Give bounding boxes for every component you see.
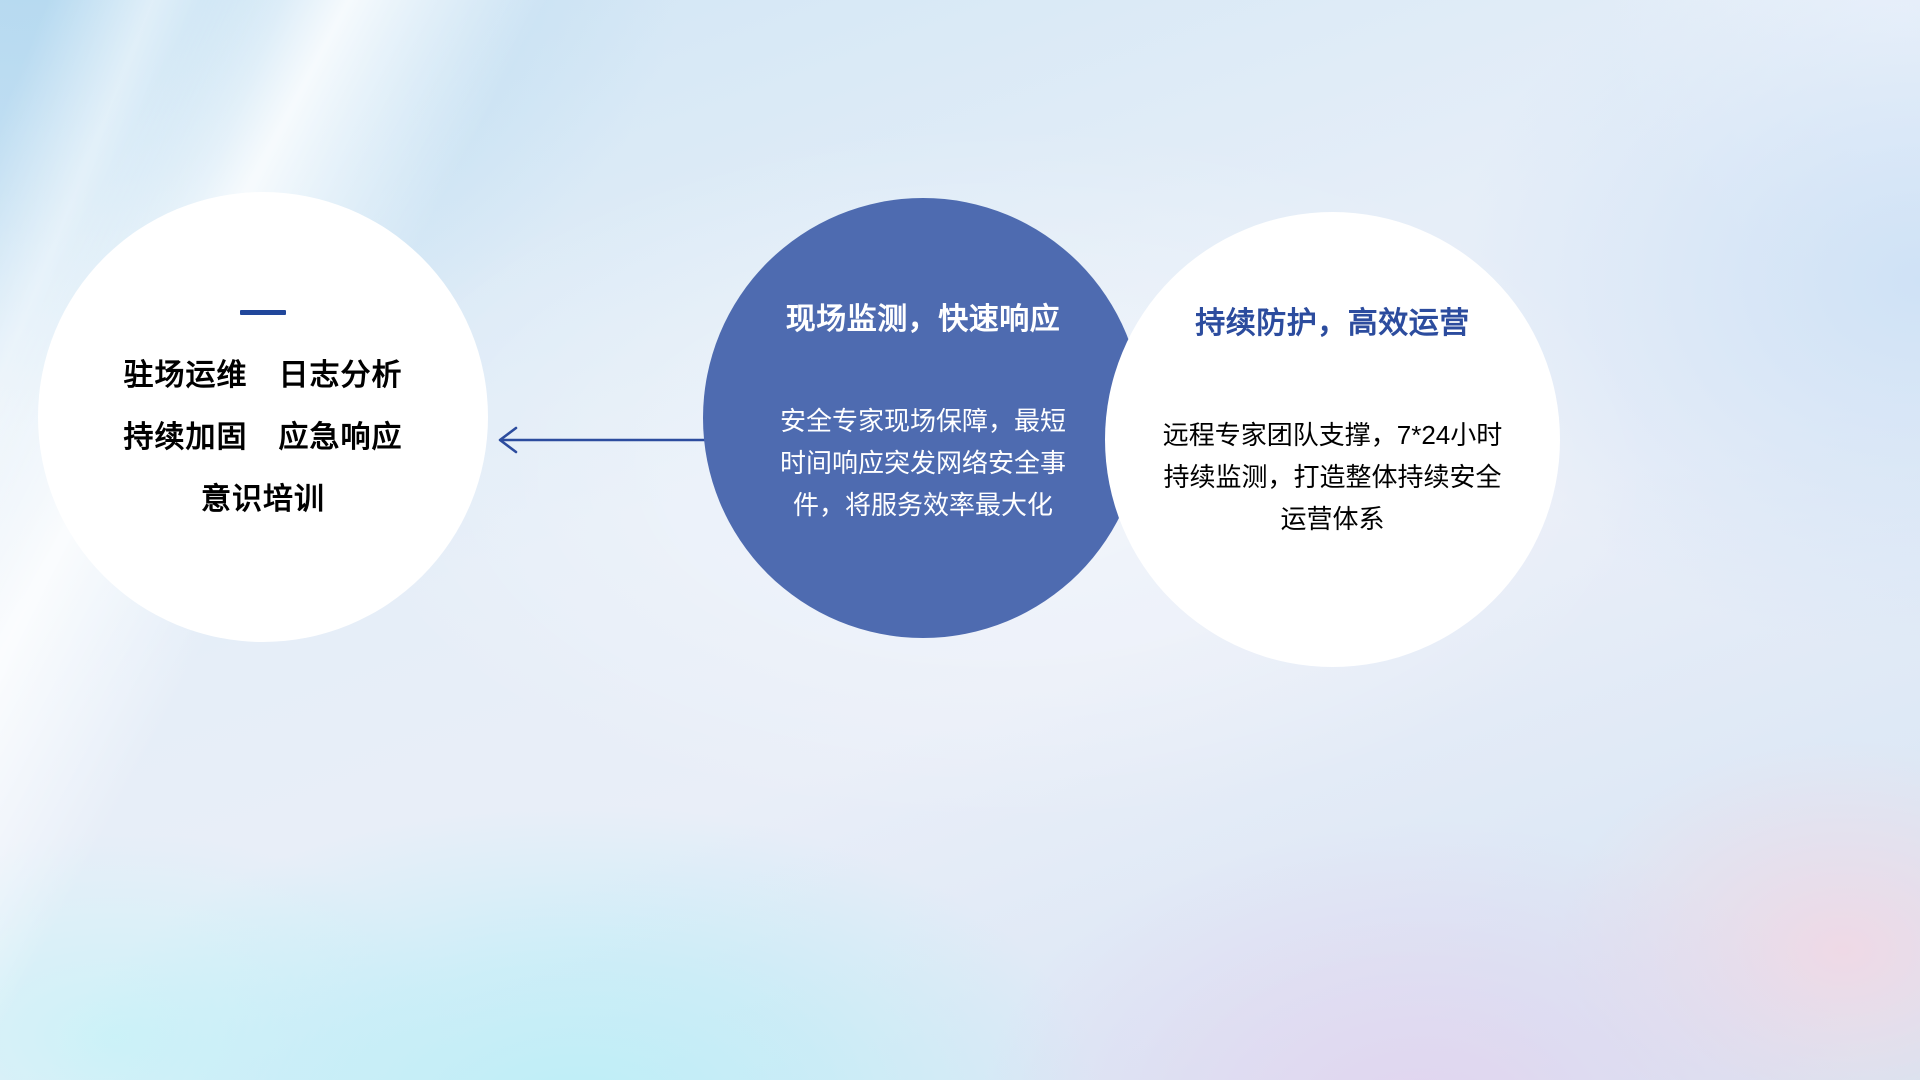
left-service-circle: 驻场运维 日志分析 持续加固 应急响应 意识培训 — [38, 192, 488, 642]
slide-canvas: 驻场运维 日志分析 持续加固 应急响应 意识培训 现场监测，快速响应 安全专家现… — [0, 0, 1920, 1080]
right-circle-body: 远程专家团队支撑，7*24小时持续监测，打造整体持续安全运营体系 — [1160, 414, 1506, 540]
right-circle-title: 持续防护，高效运营 — [1195, 298, 1470, 342]
left-circle-line-3: 意识培训 — [201, 485, 325, 515]
middle-onsite-monitoring-circle: 现场监测，快速响应 安全专家现场保障，最短时间响应突发网络安全事件，将服务效率最… — [703, 198, 1143, 638]
middle-circle-title: 现场监测，快速响应 — [786, 294, 1061, 338]
right-continuous-protection-circle: 持续防护，高效运营 远程专家团队支撑，7*24小时持续监测，打造整体持续安全运营… — [1105, 212, 1560, 667]
left-circle-divider — [240, 310, 286, 315]
middle-circle-body: 安全专家现场保障，最短时间响应突发网络安全事件，将服务效率最大化 — [773, 400, 1073, 526]
left-circle-line-1: 驻场运维 日志分析 — [124, 361, 403, 391]
left-circle-line-2: 持续加固 应急响应 — [124, 423, 403, 453]
arrow-left-icon — [488, 418, 718, 462]
